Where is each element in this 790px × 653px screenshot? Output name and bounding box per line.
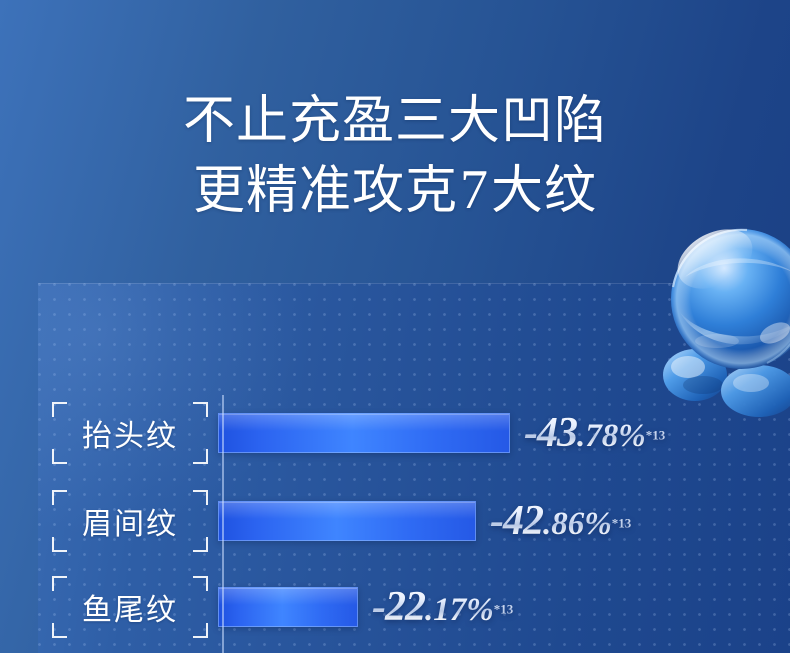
value-label: -43.78%*13 (524, 409, 665, 457)
chart-rows: 抬头纹 -43.78%*13 眉间纹 (38, 283, 790, 653)
value-decimal: .78 (577, 418, 618, 454)
bar-track (218, 587, 358, 627)
value-decimal: .17 (425, 592, 466, 628)
category-label-box: 抬头纹 (52, 402, 208, 464)
category-label-box: 鱼尾纹 (52, 576, 208, 638)
bar-track (218, 413, 510, 453)
headline-line-2: 更精准攻克7大纹 (0, 155, 790, 227)
value-sign: - (372, 584, 385, 630)
bar-track (218, 501, 476, 541)
value-unit: % (618, 418, 646, 454)
category-label: 鱼尾纹 (82, 585, 178, 629)
corner-bracket-bottom-right-icon (193, 623, 208, 638)
chart-panel: 抬头纹 -43.78%*13 眉间纹 (38, 283, 790, 653)
corner-bracket-bottom-left-icon (52, 623, 67, 638)
value-footnote: *13 (612, 516, 632, 531)
corner-bracket-top-left-icon (52, 402, 67, 417)
category-label: 抬头纹 (82, 411, 178, 455)
value-integer: 43 (537, 410, 577, 456)
value-integer: 42 (503, 498, 543, 544)
value-label: -22.17%*13 (372, 583, 513, 631)
corner-bracket-bottom-left-icon (52, 537, 67, 552)
corner-bracket-bottom-right-icon (193, 449, 208, 464)
headline-line-2-before: 更精准攻克 (193, 162, 458, 220)
poster-canvas: 不止充盈三大凹陷 更精准攻克7大纹 抬头纹 -43.78%*13 (0, 0, 790, 653)
corner-bracket-top-right-icon (193, 402, 208, 417)
value-sign: - (490, 498, 503, 544)
bar-value (218, 501, 476, 541)
corner-bracket-bottom-right-icon (193, 537, 208, 552)
corner-bracket-top-left-icon (52, 576, 67, 591)
bar-value (218, 413, 510, 453)
bar-value (218, 587, 358, 627)
category-label: 眉间纹 (82, 499, 178, 543)
value-footnote: *13 (494, 602, 514, 617)
value-label: -42.86%*13 (490, 497, 631, 545)
headline-number-7: 7 (458, 159, 491, 221)
value-sign: - (524, 410, 537, 456)
headline-line-1: 不止充盈三大凹陷 (0, 88, 790, 155)
chart-row: 眉间纹 -42.86%*13 (38, 478, 790, 564)
chart-row: 鱼尾纹 -22.17%*13 (38, 564, 790, 650)
value-footnote: *13 (646, 428, 666, 443)
page-title: 不止充盈三大凹陷 更精准攻克7大纹 (0, 88, 790, 226)
chart-row: 抬头纹 -43.78%*13 (38, 390, 790, 476)
corner-bracket-top-right-icon (193, 576, 208, 591)
value-unit: % (584, 506, 612, 542)
corner-bracket-bottom-left-icon (52, 449, 67, 464)
corner-bracket-top-right-icon (193, 490, 208, 505)
headline-line-2-after: 大纹 (491, 162, 597, 220)
chart-axis-line (222, 395, 224, 653)
corner-bracket-top-left-icon (52, 490, 67, 505)
value-integer: 22 (385, 584, 425, 630)
category-label-box: 眉间纹 (52, 490, 208, 552)
value-decimal: .86 (543, 506, 584, 542)
value-unit: % (466, 592, 494, 628)
